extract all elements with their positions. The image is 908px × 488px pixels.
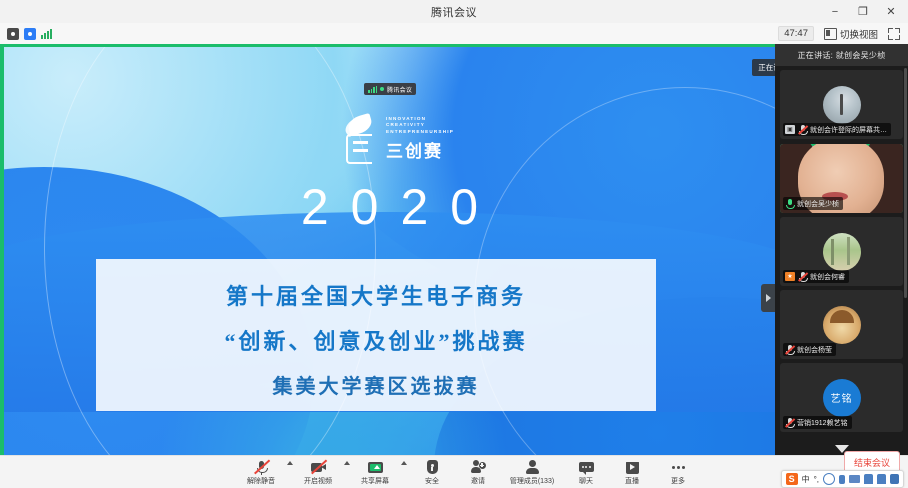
slide-title-line-1: 第十届全国大学生电子商务	[96, 279, 656, 311]
switch-view-label: 切换视图	[840, 27, 878, 41]
toolbar-item-live[interactable]: 直播	[609, 456, 655, 488]
participant-tile-0[interactable]: ▣ 就创会许登际的屏幕共…	[780, 70, 903, 139]
mic-muted-icon	[798, 272, 807, 282]
active-speaker-label: 正在讲话: 就创会吴少桢	[775, 44, 908, 66]
toolbar-label: 解除静音	[247, 476, 275, 486]
torch-leaf-icon	[339, 116, 379, 162]
toolbar-item-manage-members[interactable]: 管理成员(133)	[501, 456, 563, 488]
participant-tile-4[interactable]: 艺铭 营销1912赖艺铭	[780, 363, 903, 432]
sogou-logo-icon[interactable]: S	[786, 473, 798, 485]
logo-cn: 三创赛	[386, 137, 454, 162]
toolbar-item-more[interactable]: 更多	[655, 456, 701, 488]
mic-muted-icon	[798, 125, 807, 135]
participant-label: 就创会杨莹	[783, 343, 836, 356]
chat-icon	[579, 460, 594, 475]
meeting-timer: 47:47	[778, 26, 814, 41]
participant-name: 就创会许登际的屏幕共…	[810, 125, 887, 135]
toolbar-label: 直播	[625, 476, 639, 486]
window-title: 腾讯会议	[431, 4, 477, 20]
fullscreen-icon[interactable]	[888, 28, 900, 40]
keyboard-icon[interactable]	[849, 475, 860, 483]
invite-icon	[471, 460, 486, 475]
toolbar-label: 共享屏幕	[361, 476, 389, 486]
toolbar-item-security[interactable]: 安全	[409, 456, 455, 488]
signal-icon[interactable]	[41, 29, 52, 39]
logo-text: INNOVATION CREATIVITY ENTREPRENEURSHIP 三…	[386, 116, 454, 162]
meeting-top-right-group: 47:47 切换视图	[778, 26, 908, 41]
logo-en-3: ENTREPRENEURSHIP	[386, 129, 454, 135]
share-indicator-pill[interactable]: 腾讯会议	[364, 83, 416, 95]
speaking-badge: 正在讲...	[752, 59, 775, 76]
competition-logo: INNOVATION CREATIVITY ENTREPRENEURSHIP 三…	[339, 109, 469, 169]
participant-tile-2[interactable]: ★ 就创会何睿	[780, 217, 903, 286]
shield-security-icon	[425, 460, 440, 475]
shared-screen-region: INNOVATION CREATIVITY ENTREPRENEURSHIP 三…	[0, 44, 775, 455]
live-icon	[625, 460, 640, 475]
members-icon	[525, 460, 540, 475]
sogou-ime-bar[interactable]: S 中 °,	[781, 470, 904, 488]
camera-off-icon	[311, 460, 326, 475]
chevron-right-icon	[766, 294, 771, 302]
mic-muted-icon	[785, 418, 794, 428]
mic-active-icon	[785, 199, 794, 209]
info-icon[interactable]	[7, 28, 19, 40]
tencent-meeting-window: 腾讯会议 − ❐ ✕ 47:47 切换视图	[0, 0, 908, 488]
voice-icon[interactable]	[839, 475, 845, 484]
shared-screen-content[interactable]: INNOVATION CREATIVITY ENTREPRENEURSHIP 三…	[4, 47, 775, 455]
participant-label: ★ 就创会何睿	[783, 270, 849, 283]
close-button[interactable]: ✕	[878, 1, 904, 22]
toolbar-item-start-video[interactable]: 开启视频	[295, 456, 341, 488]
toolbar-item-unmute[interactable]: 解除静音	[238, 456, 284, 488]
avatar	[823, 86, 861, 124]
toolbar-label: 管理成员(133)	[510, 476, 554, 486]
presentation-slide: INNOVATION CREATIVITY ENTREPRENEURSHIP 三…	[4, 47, 775, 455]
toolbar-items: 解除静音 开启视频 共享屏幕 安全	[238, 456, 701, 488]
avatar	[823, 306, 861, 344]
window-controls: − ❐ ✕	[822, 0, 904, 23]
host-badge-icon: ★	[785, 272, 795, 281]
toolbar-label: 聊天	[579, 476, 593, 486]
window-title-bar: 腾讯会议 − ❐ ✕	[0, 0, 908, 24]
toolbar-label: 更多	[671, 476, 685, 486]
toolbar-item-invite[interactable]: 邀请	[455, 456, 501, 488]
collapse-rail-handle[interactable]	[761, 284, 775, 312]
participant-label: 就创会吴少桢	[783, 197, 843, 210]
toolbox-icon[interactable]	[864, 474, 873, 484]
signal-icon	[368, 86, 377, 93]
toolbar-label: 邀请	[471, 476, 485, 486]
ime-mode-label[interactable]: 中	[802, 474, 810, 485]
participant-label: ▣ 就创会许登际的屏幕共…	[783, 123, 891, 136]
mic-options-caret[interactable]	[284, 452, 295, 488]
participant-name: 就创会杨莹	[797, 345, 832, 355]
share-options-caret[interactable]	[398, 452, 409, 488]
toolbar-item-chat[interactable]: 聊天	[563, 456, 609, 488]
skin-icon[interactable]	[877, 474, 886, 484]
bottom-toolbar: 解除静音 开启视频 共享屏幕 安全	[0, 455, 908, 488]
maximize-button[interactable]: ❐	[850, 1, 876, 22]
mic-muted-icon	[254, 460, 269, 475]
toolbar-label: 开启视频	[304, 476, 332, 486]
emoji-icon[interactable]	[823, 473, 835, 485]
avatar: 艺铭	[823, 379, 861, 417]
avatar	[823, 233, 861, 271]
participant-name: 就创会吴少桢	[797, 199, 839, 209]
camera-options-caret[interactable]	[341, 452, 352, 488]
participant-label: 营销1912赖艺铭	[783, 416, 852, 429]
switch-view-button[interactable]: 切换视图	[824, 27, 878, 41]
switch-view-icon	[824, 28, 837, 40]
meeting-stage: INNOVATION CREATIVITY ENTREPRENEURSHIP 三…	[0, 44, 908, 455]
share-pill-label: 腾讯会议	[387, 85, 412, 94]
participant-rail: 正在讲话: 就创会吴少桢 ▣ 就创会许登际的屏幕共…	[775, 44, 908, 455]
avatar-initials: 艺铭	[831, 390, 853, 405]
meeting-info-group	[0, 28, 52, 40]
apps-icon[interactable]	[890, 474, 899, 484]
slide-title-line-2: “创新、创意及创业”挑战赛	[96, 324, 656, 356]
participant-name: 营销1912赖艺铭	[797, 418, 848, 428]
slide-title-card: 第十届全国大学生电子商务 “创新、创意及创业”挑战赛 集美大学赛区选拔赛	[96, 259, 656, 411]
rail-scrollbar[interactable]	[904, 68, 907, 298]
participant-tile-3[interactable]: 就创会杨莹	[780, 290, 903, 359]
toolbar-label: 安全	[425, 476, 439, 486]
slide-title-line-3: 集美大学赛区选拔赛	[96, 370, 656, 399]
mic-muted-icon	[785, 345, 794, 355]
minimize-button[interactable]: −	[822, 1, 848, 22]
punctuation-icon[interactable]: °,	[814, 475, 819, 484]
participant-name: 就创会何睿	[810, 272, 845, 282]
share-screen-icon	[368, 460, 383, 475]
shield-icon[interactable]	[24, 28, 36, 40]
screen-share-icon: ▣	[785, 125, 795, 134]
participant-tile-1[interactable]: 就创会吴少桢	[780, 144, 903, 213]
toolbar-item-share-screen[interactable]: 共享屏幕	[352, 456, 398, 488]
slide-year: 2020	[4, 178, 775, 236]
recording-dot-icon	[380, 87, 384, 91]
meeting-top-toolbar: 47:47 切换视图	[0, 23, 908, 45]
more-icon	[672, 466, 685, 469]
